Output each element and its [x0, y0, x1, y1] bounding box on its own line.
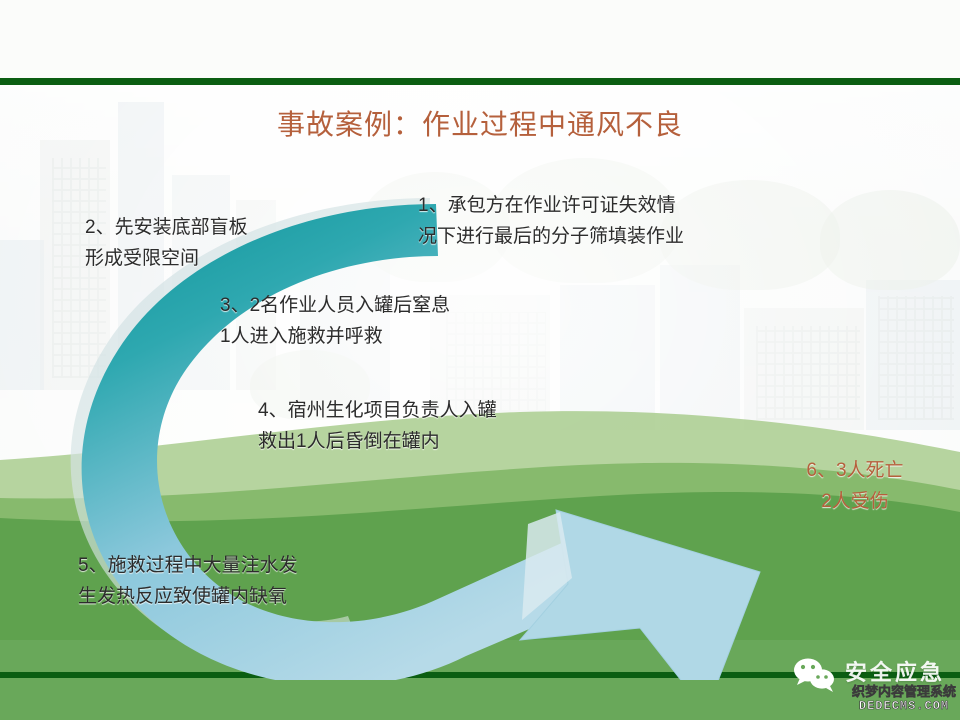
wechat-icon: [792, 657, 838, 693]
step-caption-4: 4、宿州生化项目负责人入罐 救出1人后昏倒在罐内: [258, 395, 558, 457]
step-caption-1: 1、承包方在作业许可证失效情 况下进行最后的分子筛填装作业: [418, 190, 748, 252]
page-title: 事故案例：作业过程中通风不良: [0, 103, 960, 143]
watermark-cn: 织梦内容管理系统: [848, 684, 960, 699]
watermark-en: DEDECMS.COM: [848, 699, 960, 714]
slide-canvas: 事故案例：作业过程中通风不良 1、承包方在作业许可证失效情 况下进行最后的分子筛…: [0, 0, 960, 720]
watermark: 织梦内容管理系统 DEDECMS.COM: [848, 684, 960, 714]
step-caption-6: 6、3人死亡 2人受伤: [775, 455, 935, 517]
top-accent-rule: [0, 78, 960, 85]
step-caption-5: 5、施救过程中大量注水发 生发热反应致使罐内缺氧: [78, 550, 378, 612]
step-caption-2: 2、先安装底部盲板 形成受限空间: [85, 212, 335, 274]
wechat-account-name: 安全应急: [845, 655, 945, 687]
step-caption-3: 3、2名作业人员入罐后窒息 1人进入施救并呼救: [220, 290, 560, 352]
